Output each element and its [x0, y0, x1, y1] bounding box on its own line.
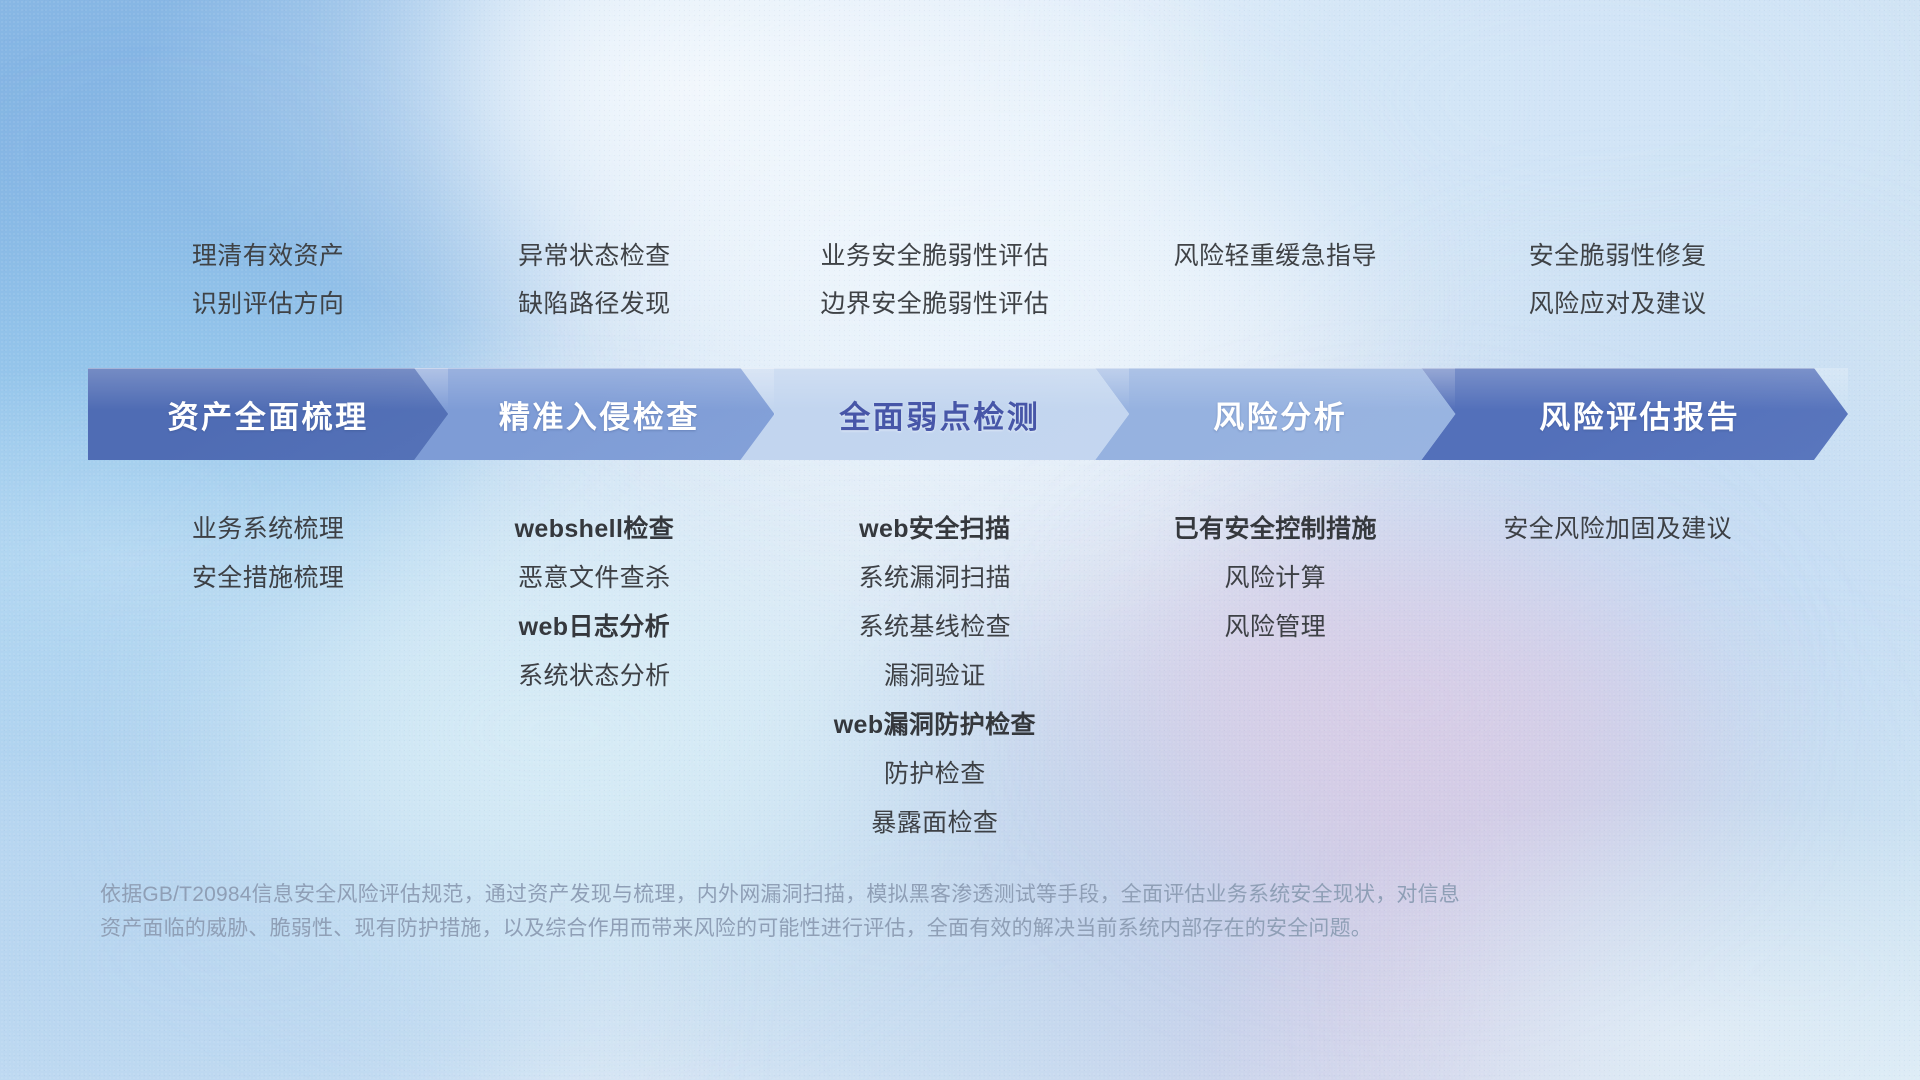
bottom-label: web漏洞防护检查	[675, 701, 1195, 750]
arrow-title: 精准入侵检查	[499, 392, 700, 437]
bottom-labels-stage-risk-report: 安全风险加固及建议	[1358, 505, 1878, 554]
arrow-title: 风险分析	[1213, 392, 1347, 437]
diagram-content: 理清有效资产识别评估方向异常状态检查缺陷路径发现业务安全脆弱性评估边界安全脆弱性…	[0, 0, 1920, 1080]
bottom-label: 暴露面检查	[675, 799, 1195, 848]
bottom-label: 漏洞验证	[675, 652, 1195, 701]
arrow-title: 风险评估报告	[1539, 392, 1740, 437]
footer-line-2: 资产面临的威胁、脆弱性、现有防护措施，以及综合作用而带来风险的可能性进行评估，全…	[100, 912, 1660, 946]
bottom-label: 安全风险加固及建议	[1358, 505, 1878, 554]
arrow-stage-weakness-detection[interactable]: 全面弱点检测	[740, 368, 1129, 460]
footer-line-1: 依据GB/T20984信息安全风险评估规范，通过资产发现与梳理，内外网漏洞扫描，…	[100, 878, 1660, 912]
bottom-label: 风险管理	[1015, 603, 1535, 652]
bottom-label: 风险计算	[1015, 554, 1535, 603]
arrow-stage-risk-report[interactable]: 风险评估报告	[1421, 368, 1848, 460]
arrow-title: 全面弱点检测	[839, 392, 1040, 437]
slide-canvas: 理清有效资产识别评估方向异常状态检查缺陷路径发现业务安全脆弱性评估边界安全脆弱性…	[0, 0, 1920, 1080]
top-label: 安全脆弱性修复	[1358, 232, 1878, 280]
arrow-title: 资产全面梳理	[168, 392, 369, 437]
arrow-stage-risk-analysis[interactable]: 风险分析	[1095, 368, 1455, 460]
footer-description: 依据GB/T20984信息安全风险评估规范，通过资产发现与梳理，内外网漏洞扫描，…	[100, 878, 1660, 946]
top-labels-stage-risk-report: 安全脆弱性修复风险应对及建议	[1358, 232, 1878, 328]
arrow-stage-asset-inventory[interactable]: 资产全面梳理	[88, 368, 448, 460]
arrow-stage-intrusion-check[interactable]: 精准入侵检查	[414, 368, 774, 460]
bottom-label: 防护检查	[675, 750, 1195, 799]
top-label: 风险应对及建议	[1358, 280, 1878, 328]
top-label: 边界安全脆弱性评估	[675, 280, 1195, 328]
process-arrow-ribbon: 资产全面梳理精准入侵检查全面弱点检测风险分析风险评估报告	[88, 368, 1848, 460]
